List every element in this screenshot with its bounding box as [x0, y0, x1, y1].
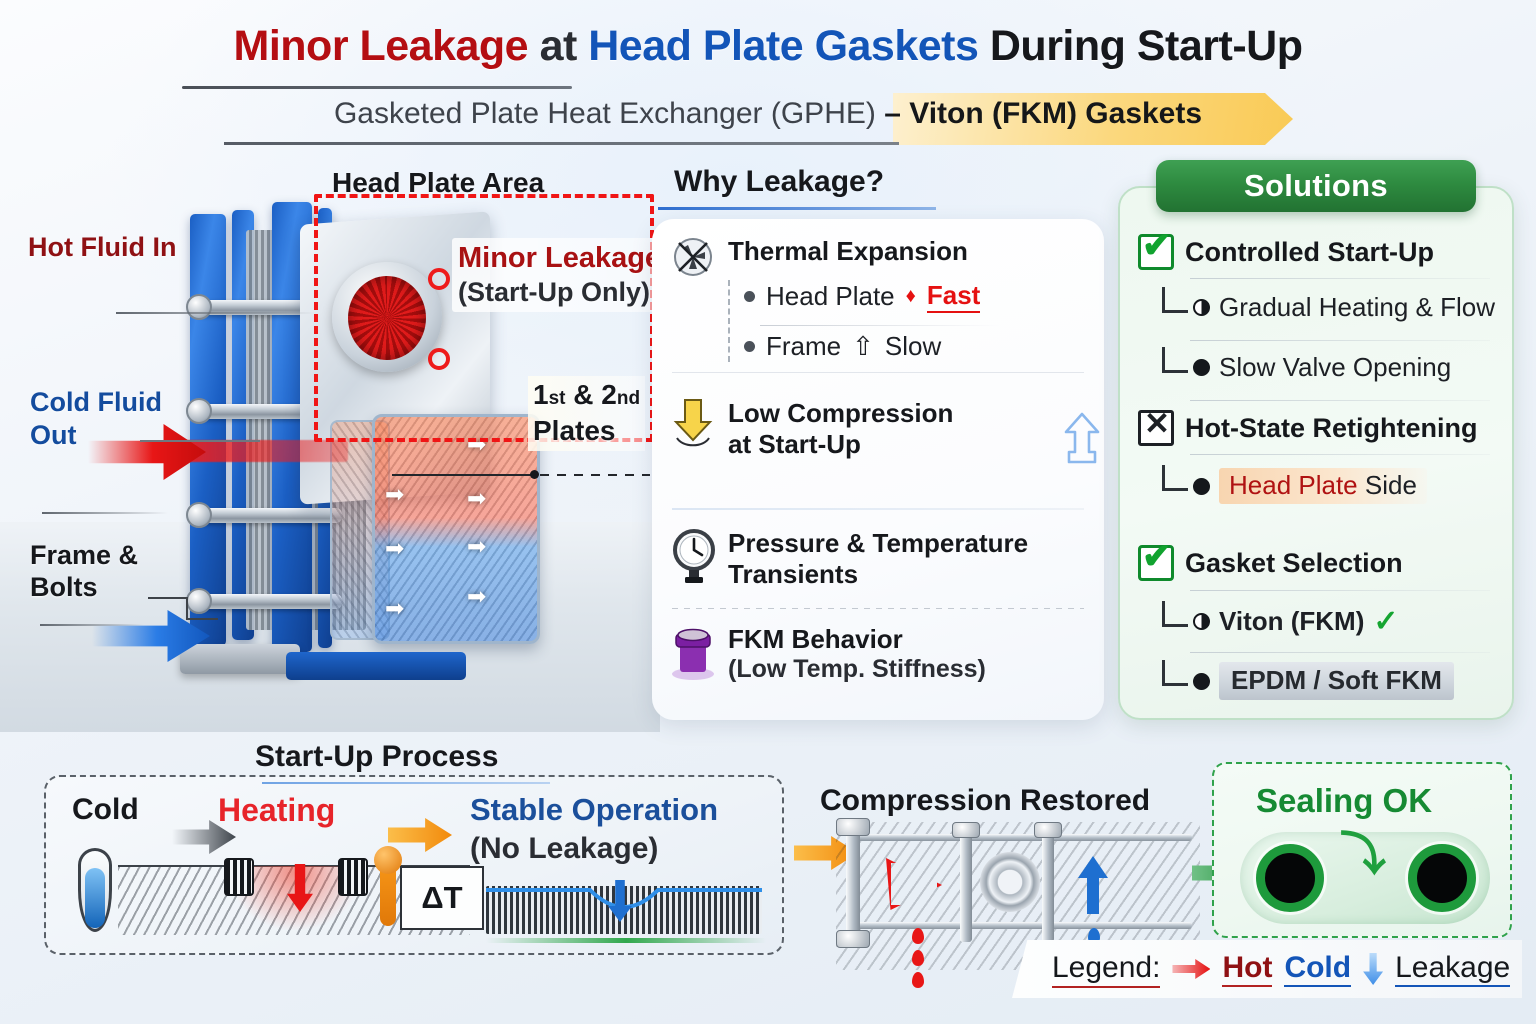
legend-bar: Legend: Hot Cold Leakage	[1012, 940, 1522, 998]
compression-bolt-right	[1042, 828, 1054, 942]
startup-stage-stable: Stable Operation (No Leakage)	[470, 790, 718, 868]
label-plates-line1: 1st & 2nd	[533, 377, 640, 413]
compression-nut-left-top	[836, 818, 870, 836]
node-dot-icon	[1193, 613, 1210, 630]
title-divider	[182, 86, 572, 89]
solution-heading-gasket-selection[interactable]: Gasket Selection	[1138, 545, 1403, 581]
leak-drip-red-1	[912, 928, 924, 944]
startup-process-title: Start-Up Process	[255, 740, 498, 774]
why-divider-1	[672, 372, 1084, 373]
thermal-sub-head-plate: Head Plate ♦ Fast	[744, 280, 1074, 313]
delta-t-badge: ΔT	[400, 866, 484, 930]
up-arrow-icon: ⇧	[852, 331, 874, 362]
leak-drip-red-3	[912, 972, 924, 988]
flow-arrow-hot-2: ➡	[467, 487, 486, 510]
title-part-during-startup: During Start-Up	[990, 22, 1303, 70]
label-plates-line2: Plates	[533, 413, 640, 449]
compression-port-rings	[980, 852, 1040, 912]
compression-nut-mid-top	[952, 822, 980, 838]
sealing-port-right	[1408, 844, 1476, 912]
why-item-title: Thermal Expansion	[728, 236, 968, 267]
solution-item-gradual-heating[interactable]: Gradual Heating & Flow	[1162, 292, 1495, 323]
sealing-ok-title: Sealing OK	[1256, 782, 1432, 820]
compression-nut-left-bottom	[836, 930, 870, 948]
thermometer-fill	[85, 868, 105, 928]
flow-arrow-hot-4: ➡	[385, 483, 404, 506]
frame-foot-right	[286, 652, 466, 680]
frame-leader-h2	[186, 618, 218, 620]
label-head-plate-area: Head Plate Area	[332, 167, 544, 199]
tie-bolt-4	[196, 594, 342, 609]
leak-drip-red-2	[912, 950, 924, 966]
gasket-block-right	[338, 858, 368, 896]
startup-stable-line2: (No Leakage)	[470, 830, 718, 868]
subtitle-accent: – Viton (FKM) Gaskets	[884, 97, 1202, 130]
solution-rule-2	[1190, 340, 1490, 341]
tie-bolt-cap-3	[186, 502, 212, 528]
startup-stage-cold: Cold	[72, 793, 139, 827]
tie-bolt-cap-2	[186, 398, 212, 424]
why-item-title: Pressure & Temperature Transients	[728, 528, 1028, 589]
stable-green-baseline	[486, 938, 766, 943]
label-minor-leakage-main: Minor Leakage	[458, 242, 661, 274]
temperature-probe-head	[374, 846, 402, 874]
thermal-sub-label: Head Plate	[766, 281, 895, 312]
solution-item-slow-valve[interactable]: Slow Valve Opening	[1162, 352, 1451, 383]
why-item-title: FKM Behavior (Low Temp. Stiffness)	[728, 624, 986, 684]
title-part-head-plate-gaskets: Head Plate Gaskets	[588, 22, 978, 70]
startup-stable-line1: Stable Operation	[470, 792, 718, 827]
compression-press-icon	[1060, 410, 1104, 476]
node-dot-icon	[1193, 478, 1210, 495]
tree-branch-icon	[1162, 465, 1188, 491]
legend-hot-label: Hot	[1222, 951, 1272, 987]
gasket-spool-icon	[670, 624, 716, 686]
infographic-canvas: Minor Leakage at Head Plate Gaskets Duri…	[0, 0, 1536, 1024]
page-title: Minor Leakage at Head Plate Gaskets Duri…	[0, 22, 1536, 71]
checkbox-checked-icon	[1138, 234, 1174, 270]
compression-rail-bottom	[846, 922, 1192, 929]
bullet-dot-icon	[744, 291, 755, 302]
compression-restored-title: Compression Restored	[820, 784, 1150, 818]
broken-fan-icon	[670, 236, 716, 284]
flow-arrow-cold-1: ➡	[467, 585, 486, 608]
label-frame-line1: Frame &	[30, 539, 138, 571]
solution-item-head-plate-side[interactable]: Head Plate Side	[1162, 468, 1427, 504]
node-dot-icon	[1193, 673, 1210, 690]
subtitle-divider	[224, 142, 899, 145]
gasket-block-left	[224, 858, 254, 896]
solution-rule-6	[1190, 652, 1490, 653]
solution-rule-1	[1190, 278, 1490, 279]
node-dot-icon	[1193, 359, 1210, 376]
compression-bolt-mid	[960, 828, 972, 942]
solution-heading-controlled-startup[interactable]: Controlled Start-Up	[1138, 234, 1434, 270]
why-item-low-compression: Low Compression at Start-Up	[670, 398, 953, 459]
solutions-badge-label: Solutions	[1244, 168, 1388, 204]
tie-bolt-cap-1	[186, 294, 212, 320]
thermal-sub-value: Fast	[927, 280, 980, 313]
label-minor-leakage: Minor Leakage (Start-Up Only)	[452, 238, 667, 312]
frame-label-rule	[40, 624, 144, 626]
frame-foot-left	[180, 644, 300, 674]
cold-leader-line	[140, 440, 260, 442]
hot-label-rule	[116, 312, 316, 314]
why-leakage-underline	[658, 207, 936, 210]
flow-arrow-hot-5: ➡	[385, 537, 404, 560]
plates-leader-dash	[540, 474, 650, 476]
solution-item-viton-fkm[interactable]: Viton (FKM) ✓	[1162, 604, 1399, 639]
frame-leader-v	[186, 597, 188, 619]
label-hot-fluid-in: Hot Fluid In	[28, 232, 176, 263]
thermal-sub-divider	[760, 325, 1000, 326]
thermal-expansion-sublist: Head Plate ♦ Fast Frame ⇧ Slow	[728, 280, 1074, 362]
startup-process-underline	[262, 782, 550, 784]
tie-bolt-3	[196, 508, 342, 523]
down-arrow-icon	[670, 398, 716, 454]
first-plate: ➡ ➡ ➡ ➡ ➡ ➡ ➡	[372, 414, 540, 644]
tree-branch-icon	[1162, 660, 1188, 686]
bullet-dot-icon	[744, 341, 755, 352]
why-item-fkm-behavior: FKM Behavior (Low Temp. Stiffness)	[670, 624, 986, 686]
cold-label-rule	[42, 512, 168, 514]
diamond-marker-icon: ♦	[906, 285, 916, 308]
thermal-sub-frame: Frame ⇧ Slow	[744, 331, 1074, 362]
label-plates: 1st & 2nd Plates	[528, 376, 645, 451]
legend-cold-label: Cold	[1284, 951, 1351, 987]
title-part-at: at	[540, 22, 577, 70]
why-item-pressure-temperature: Pressure & Temperature Transients	[670, 528, 1028, 590]
startup-stage-heating: Heating	[218, 792, 335, 829]
legend-leakage-label: Leakage	[1395, 951, 1510, 987]
plates-leader-dot	[530, 470, 539, 479]
why-divider-2	[672, 508, 1084, 510]
solution-heading-hot-state-retightening[interactable]: Hot-State Retightening	[1138, 410, 1477, 446]
thermal-sub-label: Frame	[766, 331, 841, 362]
legend-hot-arrow-icon	[1172, 959, 1210, 979]
frame-leader-h	[148, 597, 188, 599]
label-minor-leakage-sub: (Start-Up Only)	[458, 276, 661, 310]
node-dot-icon	[1193, 299, 1210, 316]
why-item-thermal-expansion: Thermal Expansion	[670, 236, 968, 284]
label-cold-line1: Cold Fluid	[30, 386, 162, 419]
compression-bolt-left	[846, 828, 860, 938]
tree-branch-icon	[1162, 347, 1188, 373]
tree-branch-icon	[1162, 601, 1188, 627]
legend-leakage-arrow-icon	[1363, 953, 1383, 985]
subtitle: Gasketed Plate Heat Exchanger (GPHE) – V…	[0, 97, 1536, 131]
solution-rule-4	[1190, 454, 1490, 455]
solution-rule-3	[1190, 400, 1490, 401]
legend-label: Legend:	[1052, 951, 1160, 988]
label-frame-line2: Bolts	[30, 571, 138, 603]
subtitle-row: Gasketed Plate Heat Exchanger (GPHE) – V…	[0, 93, 1536, 145]
plates-leader-line	[392, 474, 532, 476]
subtitle-main: Gasketed Plate Heat Exchanger (GPHE)	[334, 97, 876, 130]
solutions-badge: Solutions	[1156, 160, 1476, 212]
flow-arrow-hot-3: ➡	[467, 535, 486, 558]
sealing-check-arrow-icon: ⤵	[1340, 818, 1386, 884]
tree-branch-icon	[1162, 287, 1188, 313]
title-block: Minor Leakage at Head Plate Gaskets Duri…	[0, 22, 1536, 71]
title-part-minor-leakage: Minor Leakage	[234, 22, 529, 70]
green-check-icon: ✓	[1373, 604, 1398, 639]
sealing-port-left	[1256, 844, 1324, 912]
thermal-sub-value: Slow	[885, 331, 941, 362]
frame-column-left	[190, 214, 226, 646]
label-cold-line2: Out	[30, 419, 162, 452]
why-leakage-heading: Why Leakage?	[674, 165, 884, 199]
why-item-title: Low Compression at Start-Up	[728, 398, 953, 459]
tie-bolt-cap-4	[186, 588, 212, 614]
label-frame-bolts: Frame & Bolts	[30, 539, 138, 604]
pressure-gauge-icon	[670, 528, 716, 590]
why-divider-3	[672, 608, 1084, 609]
compression-nut-right-top	[1034, 822, 1062, 838]
flow-arrow-cold-2: ➡	[385, 597, 404, 620]
solution-rule-5	[1190, 590, 1490, 591]
checkbox-checked-icon	[1138, 545, 1174, 581]
compression-rail-top	[846, 834, 1192, 841]
solution-item-epdm-soft-fkm[interactable]: EPDM / Soft FKM	[1162, 662, 1454, 700]
checkbox-crossed-icon	[1138, 410, 1174, 446]
